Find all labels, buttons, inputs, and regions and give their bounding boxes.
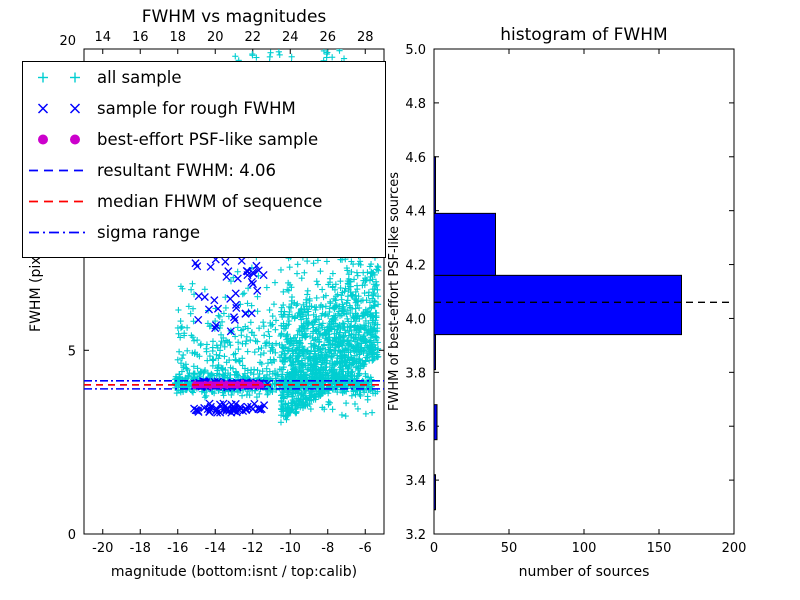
y-tick-label: 5 (68, 344, 76, 359)
x-tick-label: -10 (280, 541, 301, 556)
x-tick-label: -16 (167, 541, 188, 556)
x-top-tick-label: 24 (282, 30, 299, 45)
x-tick-label: -18 (130, 541, 151, 556)
x-top-tick-label: 14 (94, 30, 111, 45)
left-panel-ylabel: FWHM (pix) (28, 251, 44, 332)
x-top-tick-label: 28 (357, 30, 374, 45)
x-top-axis-max-label: 20 (59, 34, 76, 49)
x-tick-label: -8 (321, 541, 334, 556)
x-top-tick-label: 22 (244, 30, 261, 45)
y-tick-label: 0 (68, 528, 76, 543)
x-top-tick-label: 18 (169, 30, 186, 45)
figure-canvas: -20-18-16-14-12-10-8-6141618202224262805… (0, 0, 800, 600)
x-tick-label: -6 (359, 541, 372, 556)
left-panel-title: FWHM vs magnitudes (142, 7, 327, 27)
x-top-tick-label: 26 (319, 30, 336, 45)
x-tick-label: -14 (205, 541, 226, 556)
x-top-tick-label: 16 (132, 30, 149, 45)
left-panel-xlabel: magnitude (bottom:isnt / top:calib) (111, 564, 357, 580)
x-tick-label: -12 (242, 541, 263, 556)
x-tick-label: -20 (92, 541, 113, 556)
x-top-tick-label: 20 (207, 30, 224, 45)
